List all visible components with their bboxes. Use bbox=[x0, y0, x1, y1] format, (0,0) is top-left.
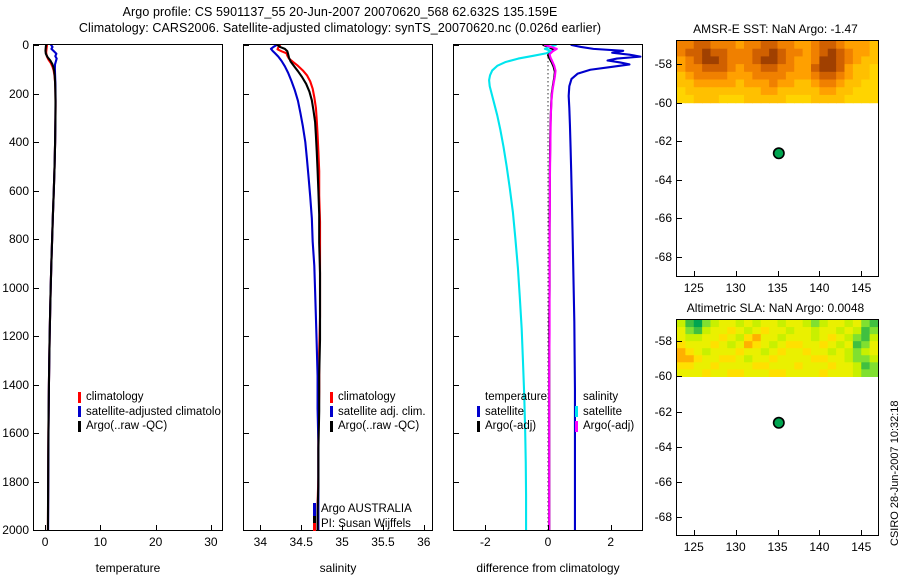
map-lat-tick-mark bbox=[677, 141, 682, 142]
y-axis-tick: 200 bbox=[0, 87, 29, 101]
legend-swatch-climatology bbox=[78, 392, 81, 403]
csiro-timestamp: CSIRO 28-Jun-2007 10:32:18 bbox=[889, 400, 900, 546]
legend-swatch-salt-argo bbox=[575, 421, 578, 432]
sst-map-title: AMSR-E SST: NaN Argo: -1.47 bbox=[668, 22, 883, 36]
title-line-1: Argo profile: CS 5901137_55 20-Jun-2007 … bbox=[0, 4, 680, 20]
legend-item: satellite bbox=[477, 405, 547, 420]
legend-swatch-argo bbox=[78, 421, 81, 432]
y-tick-mark bbox=[454, 191, 459, 192]
map-lon-tick: 135 bbox=[767, 540, 787, 554]
map-lat-tick-mark bbox=[677, 103, 682, 104]
annotation-line-2: PI: Susan Wijffels bbox=[321, 517, 412, 532]
y-tick-mark bbox=[244, 94, 249, 95]
x-tick-mark bbox=[260, 525, 261, 530]
map-lon-tick: 125 bbox=[684, 281, 704, 295]
y-tick-mark bbox=[244, 385, 249, 386]
map-lon-tick-mark bbox=[736, 530, 737, 535]
legend-item: Argo(-adj) bbox=[575, 419, 634, 434]
map-lon-tick: 130 bbox=[726, 540, 746, 554]
figure-title: Argo profile: CS 5901137_55 20-Jun-2007 … bbox=[0, 4, 680, 36]
legend-column-salinity: salinity satellite Argo(-adj) bbox=[575, 390, 634, 434]
map-lat-tick-mark bbox=[677, 412, 682, 413]
y-tick-mark bbox=[34, 482, 39, 483]
legend-swatch-temp-argo bbox=[477, 421, 480, 432]
sst-map-panel bbox=[676, 40, 879, 277]
map-lon-tick: 125 bbox=[684, 540, 704, 554]
y-axis-tick: 400 bbox=[0, 135, 29, 149]
x-tick-mark bbox=[211, 525, 212, 530]
legend-label: climatology bbox=[86, 390, 144, 405]
y-axis-tick: 1800 bbox=[0, 475, 29, 489]
legend-item: climatology bbox=[330, 390, 426, 405]
map-lat-tick-mark bbox=[677, 257, 682, 258]
y-tick-mark bbox=[454, 336, 459, 337]
map-lat-tick: -68 bbox=[642, 250, 672, 264]
y-tick-mark bbox=[244, 45, 249, 46]
map-lat-tick: -58 bbox=[642, 334, 672, 348]
x-tick-mark bbox=[548, 525, 549, 530]
x-axis-tick: 35.5 bbox=[371, 535, 394, 549]
salinity-legend: climatology satellite adj. clim. Argo(..… bbox=[330, 390, 426, 434]
map-lon-tick: 130 bbox=[726, 281, 746, 295]
difference-panel bbox=[453, 44, 643, 531]
x-axis-tick: -2 bbox=[480, 535, 491, 549]
legend-label: satellite-adjusted climatolo bbox=[86, 405, 221, 420]
x-tick-mark bbox=[45, 525, 46, 530]
legend-label: satellite adj. clim. bbox=[338, 405, 426, 420]
y-tick-mark bbox=[34, 191, 39, 192]
map-lat-tick: -64 bbox=[642, 173, 672, 187]
y-tick-mark bbox=[244, 336, 249, 337]
y-tick-mark bbox=[244, 288, 249, 289]
legend-spacer bbox=[477, 392, 480, 403]
map-lon-tick: 145 bbox=[851, 540, 871, 554]
y-axis-tick: 0 bbox=[0, 38, 29, 52]
x-tick-mark bbox=[485, 525, 486, 530]
y-tick-mark bbox=[34, 385, 39, 386]
legend-swatch-satellite bbox=[330, 406, 333, 417]
map-lat-tick: -62 bbox=[642, 134, 672, 148]
x-tick-mark bbox=[424, 525, 425, 530]
y-tick-mark bbox=[244, 530, 249, 531]
x-axis-tick: 0 bbox=[545, 535, 552, 549]
y-axis-tick: 600 bbox=[0, 184, 29, 198]
map-lat-tick-mark bbox=[677, 218, 682, 219]
legend-item: satellite-adjusted climatolo bbox=[78, 405, 221, 420]
map-lon-tick: 140 bbox=[809, 540, 829, 554]
sst-map-plot-area bbox=[677, 41, 878, 276]
annotation-line-1: Argo AUSTRALIA bbox=[321, 502, 412, 517]
y-tick-mark bbox=[244, 239, 249, 240]
map-lat-tick: -58 bbox=[642, 57, 672, 71]
temperature-plot-area bbox=[34, 45, 222, 530]
figure-canvas: Argo profile: CS 5901137_55 20-Jun-2007 … bbox=[0, 0, 900, 580]
x-axis-tick: 2 bbox=[607, 535, 614, 549]
x-axis-tick: 34 bbox=[254, 535, 267, 549]
y-tick-mark bbox=[244, 482, 249, 483]
map-lat-tick: -66 bbox=[642, 211, 672, 225]
x-axis-tick: 0 bbox=[42, 535, 49, 549]
x-axis-tick: 35 bbox=[335, 535, 348, 549]
y-tick-mark bbox=[454, 239, 459, 240]
map-lat-tick-mark bbox=[677, 482, 682, 483]
legend-label: climatology bbox=[338, 390, 396, 405]
x-tick-mark bbox=[156, 525, 157, 530]
y-tick-mark bbox=[244, 433, 249, 434]
map-lon-tick-mark bbox=[819, 271, 820, 276]
x-tick-mark bbox=[301, 525, 302, 530]
legend-heading-label: salinity bbox=[583, 390, 618, 405]
sla-map-panel bbox=[676, 319, 879, 536]
difference-legend: temperature satellite Argo(-adj) salinit… bbox=[477, 390, 634, 434]
legend-swatch-satellite bbox=[78, 406, 81, 417]
map-lon-tick-mark bbox=[861, 271, 862, 276]
y-tick-mark bbox=[454, 385, 459, 386]
y-tick-mark bbox=[34, 433, 39, 434]
y-tick-mark bbox=[244, 191, 249, 192]
x-axis-tick: 36 bbox=[417, 535, 430, 549]
map-lon-tick: 140 bbox=[809, 281, 829, 295]
y-tick-mark bbox=[34, 239, 39, 240]
salinity-panel bbox=[243, 44, 433, 531]
map-lat-tick-mark bbox=[677, 517, 682, 518]
x-axis-tick: 34.5 bbox=[290, 535, 313, 549]
legend-label: satellite bbox=[583, 405, 622, 420]
y-tick-mark bbox=[454, 45, 459, 46]
y-axis-tick: 1400 bbox=[0, 378, 29, 392]
map-lon-tick-mark bbox=[694, 530, 695, 535]
y-tick-mark bbox=[454, 433, 459, 434]
salinity-plot-area bbox=[244, 45, 432, 530]
difference-xlabel: difference from climatology bbox=[448, 561, 648, 575]
legend-item: Argo(..raw -QC) bbox=[330, 419, 426, 434]
y-tick-mark bbox=[34, 142, 39, 143]
x-axis-tick: 30 bbox=[204, 535, 217, 549]
legend-item: satellite bbox=[575, 405, 634, 420]
legend-item: climatology bbox=[78, 390, 221, 405]
map-lat-tick: -60 bbox=[642, 96, 672, 110]
map-lat-tick: -62 bbox=[642, 405, 672, 419]
annotation-color-bar bbox=[313, 503, 316, 531]
legend-label: satellite bbox=[485, 405, 524, 420]
legend-heading: temperature bbox=[477, 390, 547, 405]
map-lat-tick-mark bbox=[677, 180, 682, 181]
map-lat-tick: -60 bbox=[642, 369, 672, 383]
map-lon-tick-mark bbox=[778, 271, 779, 276]
map-lat-tick-mark bbox=[677, 341, 682, 342]
legend-heading: salinity bbox=[575, 390, 634, 405]
y-tick-mark bbox=[34, 336, 39, 337]
map-lat-tick: -68 bbox=[642, 510, 672, 524]
x-axis-tick: 20 bbox=[149, 535, 162, 549]
y-tick-mark bbox=[454, 482, 459, 483]
map-lat-tick-mark bbox=[677, 376, 682, 377]
map-lat-tick-mark bbox=[677, 447, 682, 448]
y-tick-mark bbox=[454, 288, 459, 289]
x-tick-mark bbox=[100, 525, 101, 530]
y-tick-mark bbox=[454, 530, 459, 531]
y-axis-tick: 1600 bbox=[0, 426, 29, 440]
argo-australia-annotation: Argo AUSTRALIA PI: Susan Wijffels bbox=[321, 502, 412, 531]
map-lon-tick-mark bbox=[736, 271, 737, 276]
sla-map-title: Altimetric SLA: NaN Argo: 0.0048 bbox=[668, 301, 883, 315]
x-tick-mark bbox=[611, 525, 612, 530]
y-axis-tick: 2000 bbox=[0, 523, 29, 537]
legend-swatch-climatology bbox=[330, 392, 333, 403]
sla-map-plot-area bbox=[677, 320, 878, 535]
legend-swatch-temp-satellite bbox=[477, 406, 480, 417]
legend-label: Argo(-adj) bbox=[583, 419, 634, 434]
y-tick-mark bbox=[454, 142, 459, 143]
y-tick-mark bbox=[244, 142, 249, 143]
y-axis-tick: 1000 bbox=[0, 281, 29, 295]
legend-spacer bbox=[575, 392, 578, 403]
map-lat-tick: -64 bbox=[642, 440, 672, 454]
map-lat-tick: -66 bbox=[642, 475, 672, 489]
map-lon-tick-mark bbox=[819, 530, 820, 535]
y-tick-mark bbox=[454, 94, 459, 95]
temperature-xlabel: temperature bbox=[33, 561, 223, 575]
y-axis-tick: 800 bbox=[0, 232, 29, 246]
legend-item: Argo(-adj) bbox=[477, 419, 547, 434]
legend-item: satellite adj. clim. bbox=[330, 405, 426, 420]
map-lat-tick-mark bbox=[677, 64, 682, 65]
y-tick-mark bbox=[34, 288, 39, 289]
map-lon-tick: 135 bbox=[767, 281, 787, 295]
title-line-2: Climatology: CARS2006. Satellite-adjuste… bbox=[0, 20, 680, 36]
y-tick-mark bbox=[34, 45, 39, 46]
y-tick-mark bbox=[34, 530, 39, 531]
x-axis-tick: 10 bbox=[94, 535, 107, 549]
map-lon-tick-mark bbox=[861, 530, 862, 535]
legend-label: Argo(-adj) bbox=[485, 419, 536, 434]
legend-label: Argo(..raw -QC) bbox=[86, 419, 167, 434]
legend-swatch-salt-satellite bbox=[575, 406, 578, 417]
difference-plot-area bbox=[454, 45, 642, 530]
legend-swatch-argo bbox=[330, 421, 333, 432]
y-axis-tick: 1200 bbox=[0, 329, 29, 343]
y-tick-mark bbox=[34, 94, 39, 95]
legend-heading-label: temperature bbox=[485, 390, 547, 405]
temperature-panel bbox=[33, 44, 223, 531]
legend-column-temperature: temperature satellite Argo(-adj) bbox=[477, 390, 547, 434]
map-lon-tick-mark bbox=[778, 530, 779, 535]
salinity-xlabel: salinity bbox=[243, 561, 433, 575]
map-lon-tick-mark bbox=[694, 271, 695, 276]
legend-label: Argo(..raw -QC) bbox=[338, 419, 419, 434]
legend-item: Argo(..raw -QC) bbox=[78, 419, 221, 434]
map-lon-tick: 145 bbox=[851, 281, 871, 295]
temperature-legend: climatology satellite-adjusted climatolo… bbox=[78, 390, 221, 434]
